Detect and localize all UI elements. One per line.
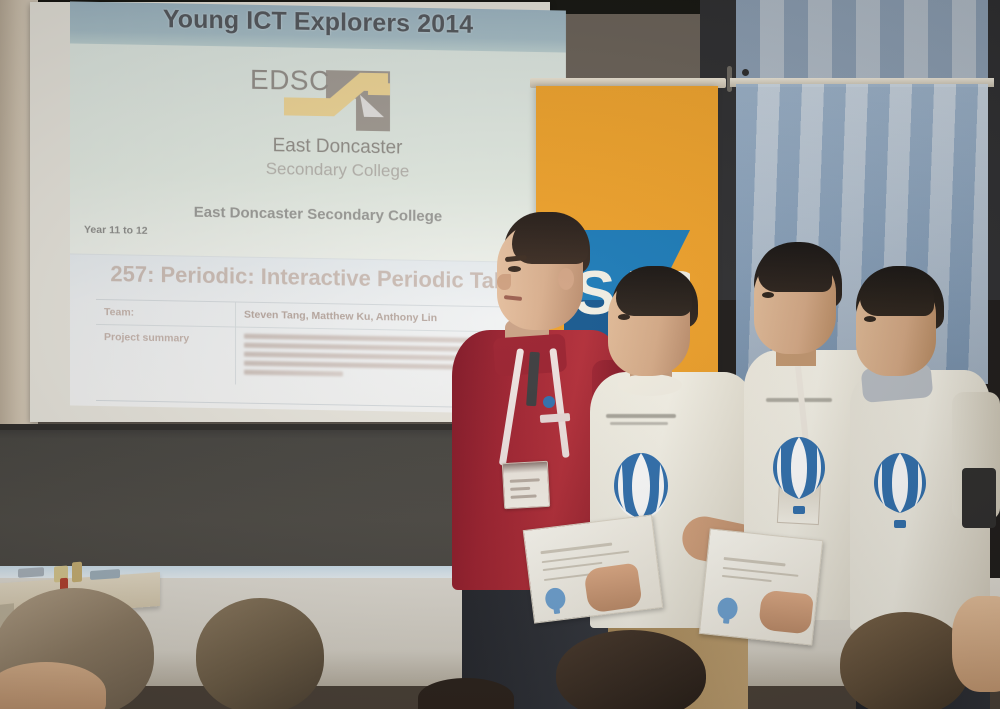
- student-middle-hair-front: [758, 244, 832, 292]
- student-left-collar: [618, 374, 682, 396]
- background-object: [962, 468, 996, 528]
- student-left-eye: [618, 314, 630, 320]
- student-right-hand: [758, 589, 814, 634]
- presentation-photo: Young ICT Explorers 2014 EDSC East Donca…: [0, 0, 1000, 709]
- student-left-hand: [583, 562, 643, 613]
- audience-head: [196, 598, 324, 709]
- hot-air-balloon-logo-icon: [872, 452, 928, 530]
- hot-air-balloon-logo-icon: [770, 436, 828, 516]
- shirt-logo-badge: [543, 396, 555, 408]
- student-right-hair-front: [860, 268, 934, 316]
- table-row-label: Project summary: [96, 325, 236, 385]
- table-item: [18, 567, 44, 578]
- edsc-school-name: East Doncaster: [250, 135, 425, 159]
- certificate-balloon-logo-icon: [714, 597, 739, 632]
- tshirt-print-text: [606, 414, 676, 418]
- slide-year-level: Year 11 to 12: [84, 224, 148, 237]
- audience-head: [840, 612, 970, 709]
- presenter-nose: [497, 274, 511, 290]
- table-item: [72, 562, 82, 583]
- edsc-school-subtitle: Secondary College: [250, 159, 425, 182]
- balloon-banner-upper: [736, 0, 988, 80]
- student-left-hair-front: [616, 268, 692, 316]
- student-middle-eye: [762, 292, 774, 298]
- edsc-acronym: EDSC: [250, 64, 346, 98]
- slide-school-line: East Doncaster Secondary College: [70, 201, 566, 227]
- presenter-eye: [508, 266, 521, 272]
- name-badge: [502, 461, 550, 509]
- tshirt-print-subtext: [610, 422, 668, 425]
- table-row-label: Team:: [96, 300, 236, 327]
- slide-project-title: 257: Periodic: Interactive Periodic Tabl…: [70, 260, 566, 295]
- student-right-eye: [864, 316, 876, 322]
- certificate-balloon-logo-icon: [543, 587, 569, 622]
- audience-face: [952, 596, 1000, 692]
- banner-knob: [742, 69, 749, 76]
- edsc-logo: EDSC East Doncaster Secondary College: [250, 63, 425, 198]
- presenter-ear: [558, 268, 574, 290]
